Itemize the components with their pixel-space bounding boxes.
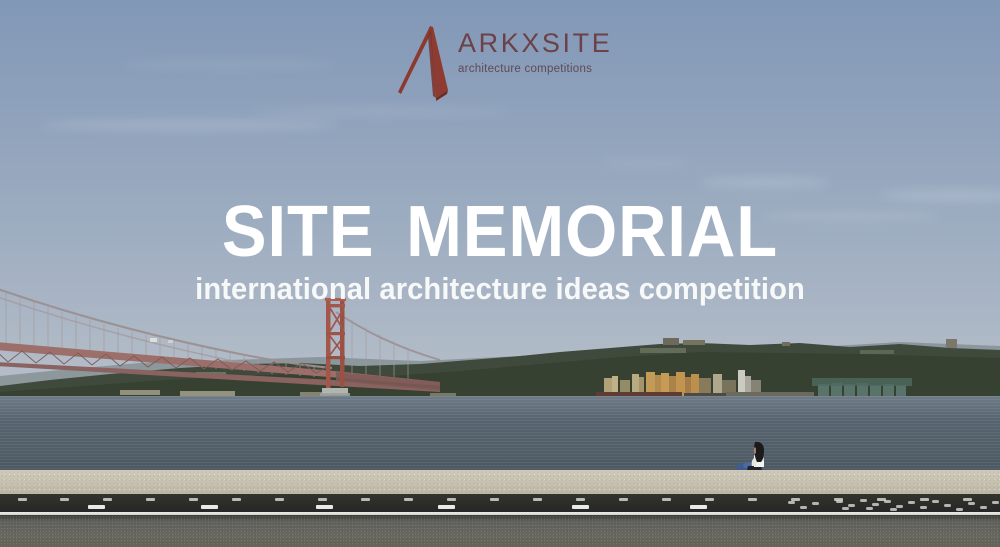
water-ripples (0, 396, 1000, 476)
cobble-texture (0, 470, 1000, 494)
cloud-wisp (250, 108, 510, 116)
logo-text-group: ARKXSITE architecture competitions (458, 24, 612, 76)
river-water (0, 396, 1000, 476)
cloud-wisp (120, 60, 340, 69)
arkxsite-logo[interactable]: ARKXSITE architecture competitions (390, 24, 625, 104)
poster-subtitle: international architecture ideas competi… (30, 273, 970, 304)
cobblestone-promenade (0, 470, 1000, 494)
logo-wordmark: ARKXSITE (458, 30, 612, 57)
logo-tagline: architecture competitions (458, 64, 612, 76)
poster-canvas: ARKXSITE architecture competitions SITEM… (0, 0, 1000, 547)
seated-person (735, 436, 779, 474)
arkxsite-a-mark-icon (390, 24, 452, 104)
cloud-wisp (700, 178, 830, 187)
asphalt-texture (0, 515, 1000, 547)
cloud-wisp (600, 160, 690, 167)
road-dark-band (0, 494, 1000, 513)
cloud-wisp (40, 120, 340, 130)
title-word-site: SITE (222, 192, 375, 272)
title-word-memorial: MEMORIAL (406, 192, 778, 272)
foreground-asphalt (0, 515, 1000, 547)
poster-title: SITEMEMORIAL (35, 196, 965, 268)
